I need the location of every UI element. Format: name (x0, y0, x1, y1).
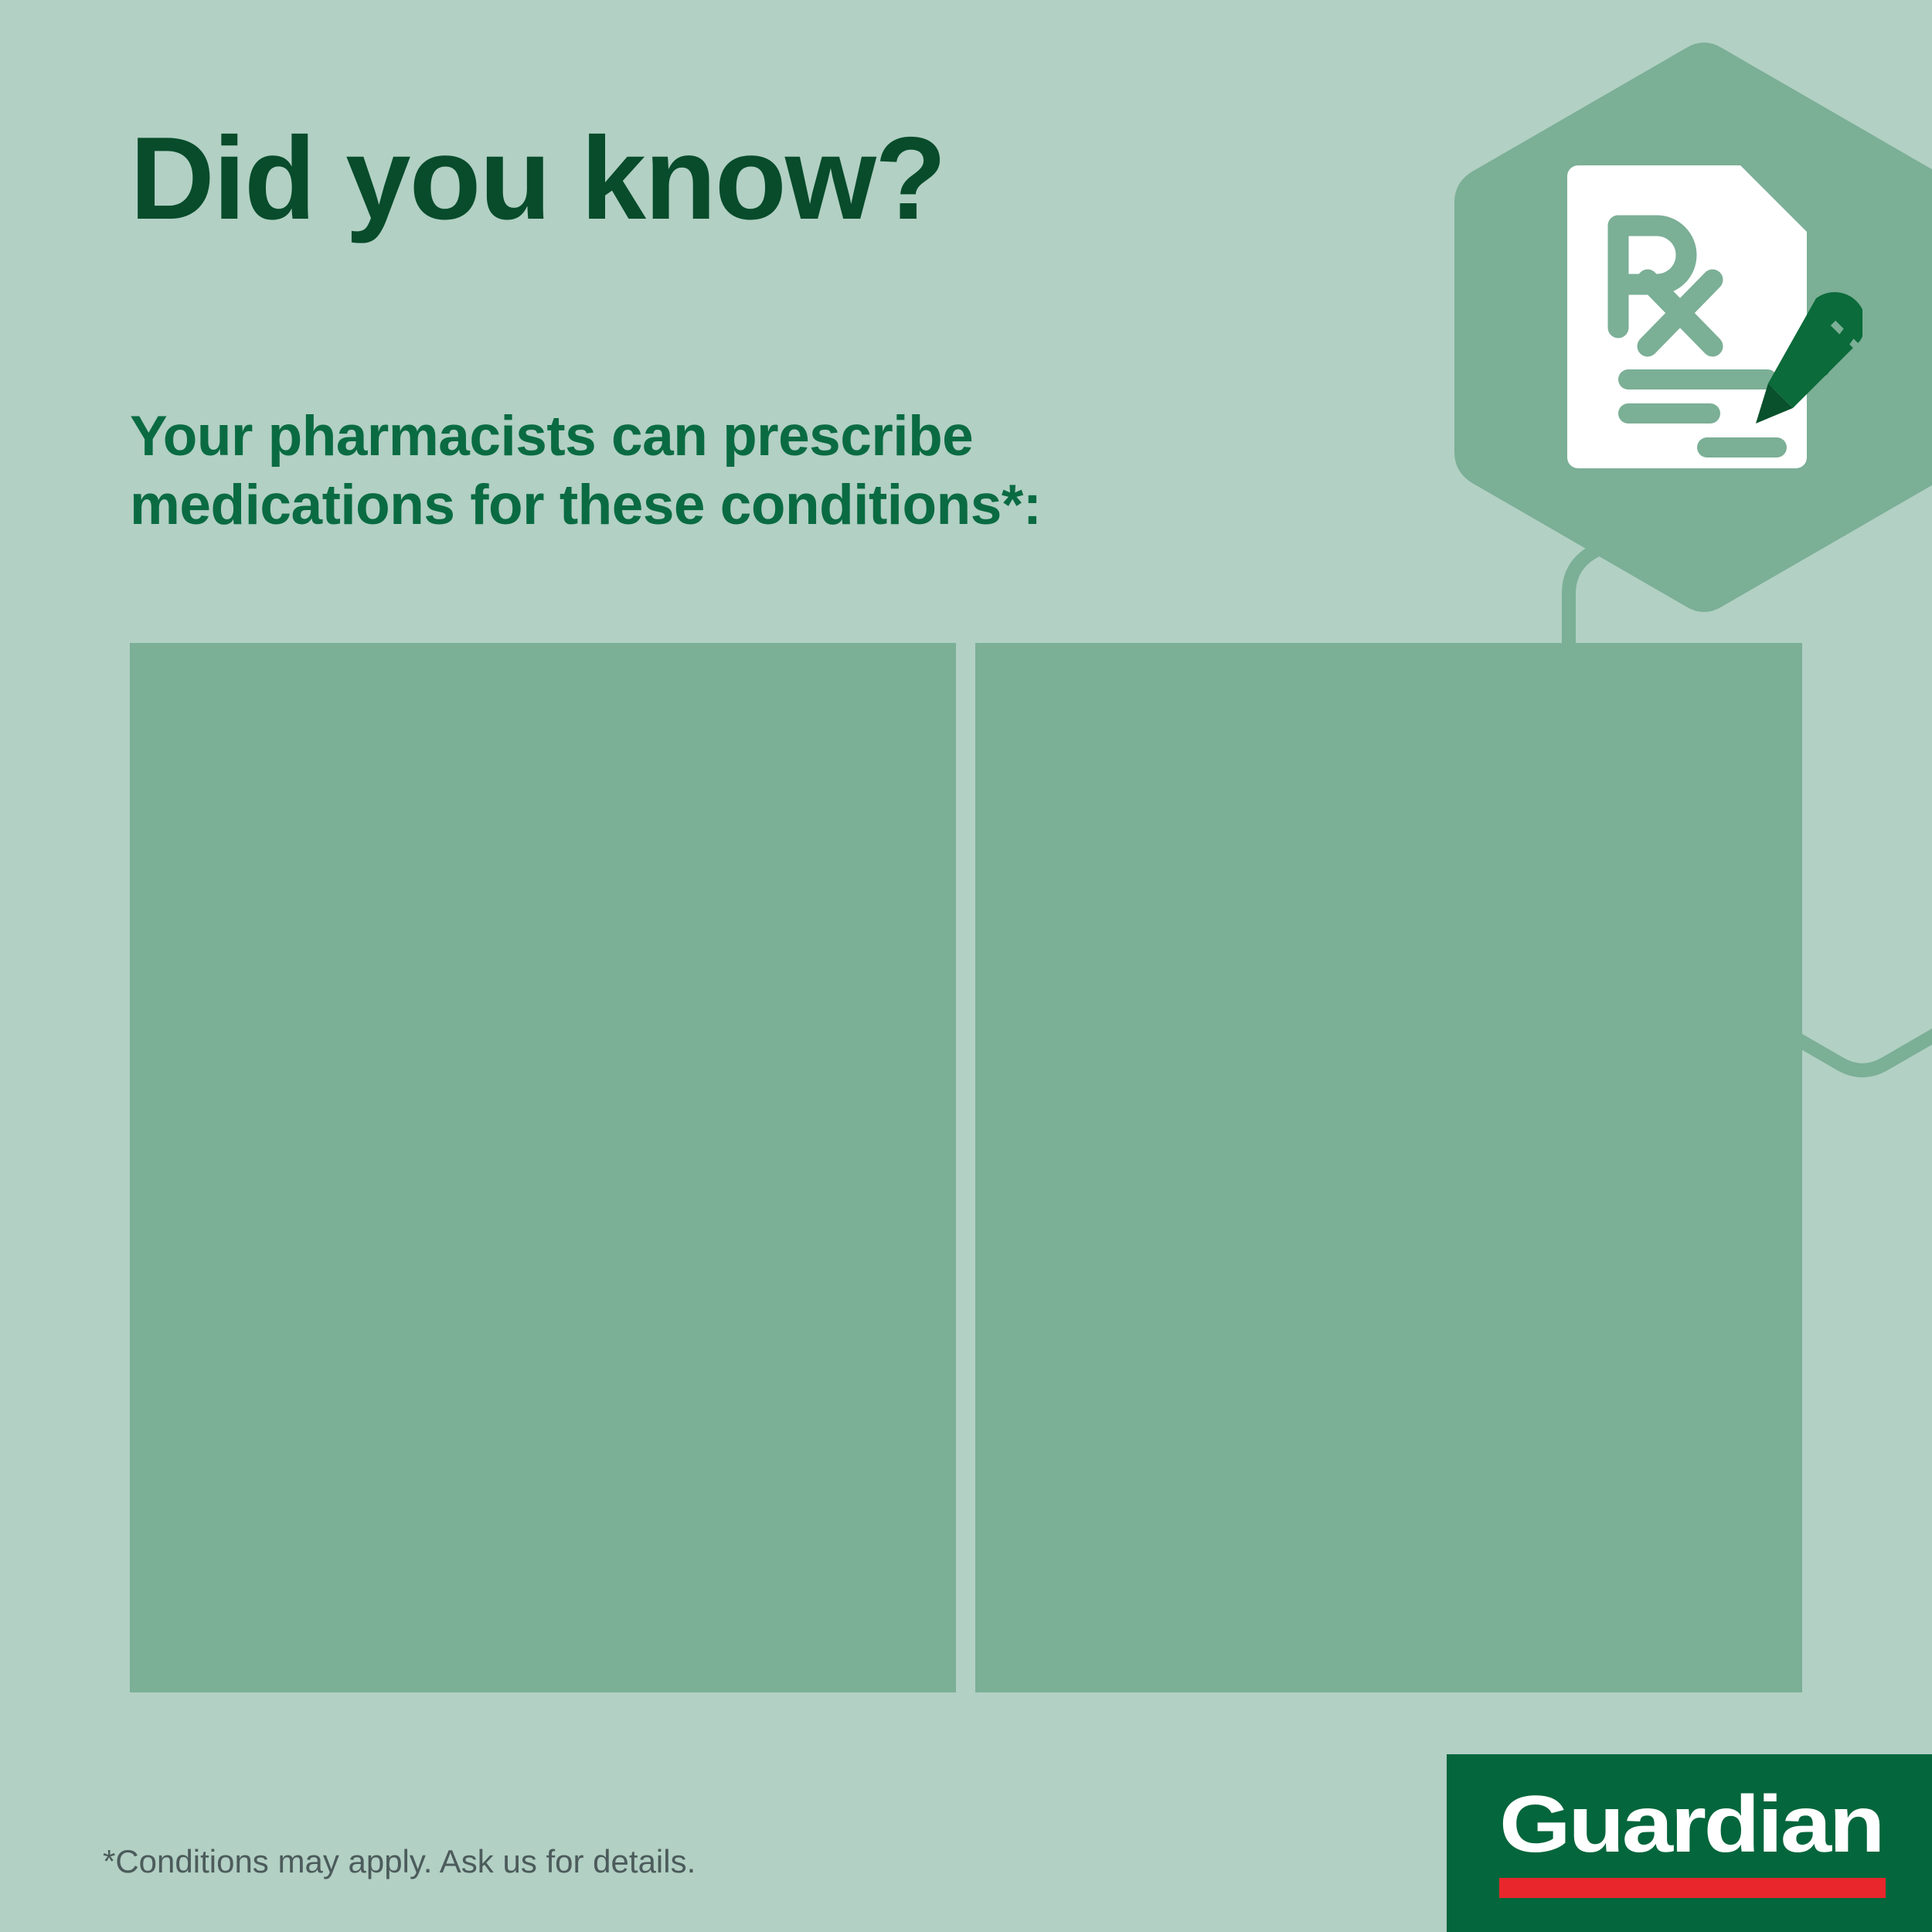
guardian-logo-block[interactable]: Guardian ® (1447, 1754, 1932, 1932)
rx-prescription-icon (1561, 162, 1862, 471)
page-subtitle: Your pharmacists can prescribe medicatio… (130, 402, 1250, 539)
right-content-panel[interactable] (975, 643, 1802, 1692)
page-title: Did you know? (130, 120, 945, 237)
rx-text-line-1 (1618, 369, 1777, 389)
rx-signature-line (1697, 437, 1787, 457)
guardian-wordmark-text: Guardian (1499, 1787, 1883, 1868)
guardian-wordmark: Guardian (1499, 1787, 1886, 1868)
poster-canvas: Did you know? Your pharmacists can presc… (0, 0, 1932, 1932)
footnote-disclaimer: *Conditions may apply. Ask us for detail… (103, 1843, 696, 1880)
left-content-panel[interactable] (130, 643, 956, 1692)
rx-text-line-2 (1618, 403, 1720, 423)
guardian-red-rule: ® (1499, 1878, 1886, 1898)
page-subtitle-line-1: Your pharmacists can prescribe (130, 402, 1250, 471)
conditions-panel-group (130, 643, 1802, 1692)
page-subtitle-line-2: medications for these conditions*: (130, 471, 1250, 539)
